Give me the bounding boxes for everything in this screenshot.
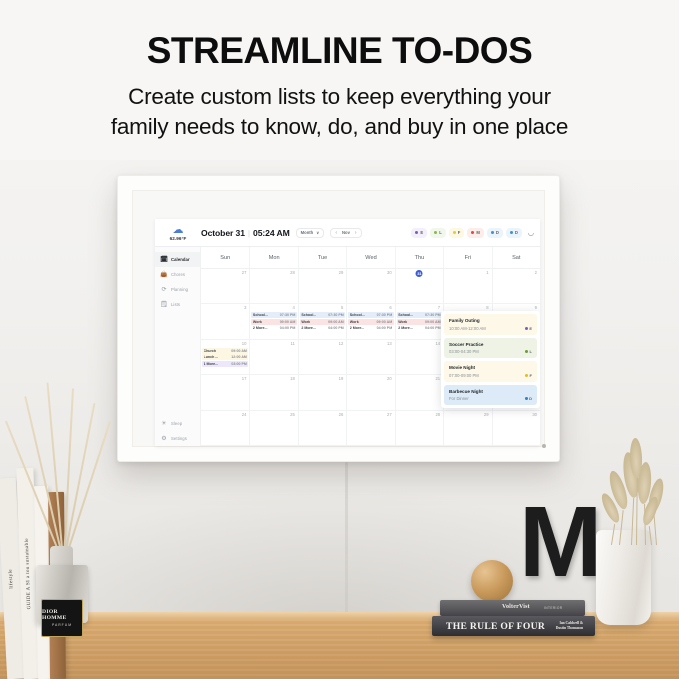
calendar-event[interactable]: Work09:00 AM [251,319,296,325]
filter-dot-icon [434,231,437,234]
left-book-title: GUIDE A SI a tou sustainable [25,538,32,609]
chevron-right-icon[interactable]: › [355,230,357,236]
day-number: 25 [290,412,295,417]
day-number: 2 [535,270,537,275]
calendar-week-row: 272829303112 [201,269,540,304]
day-number: 4 [293,305,295,310]
day-number: 1 [486,270,488,275]
calendar-event[interactable]: Church09:00 AM [202,348,248,354]
calendar-event[interactable]: Work09:00 AM [300,319,345,325]
event-time: 07:30 PM [328,312,344,318]
sidebar-item-lists[interactable]: 🗒Lists [155,297,200,312]
day-header-wed: Wed [346,247,394,268]
agenda-card-tag: L [525,349,532,354]
agenda-card-tag: F [525,373,532,378]
sidebar-item-label: Calendar [171,257,190,262]
event-title: Work [350,319,359,325]
event-time: 04:00 PM [328,325,344,331]
calendar-day-cell[interactable]: 6School...07:30 PMWork09:00 AM2 More...0… [346,304,394,338]
calendar-day-cell[interactable]: 20 [346,375,394,409]
day-header-thu: Thu [395,247,443,268]
date-label: October 31 [201,228,245,238]
list-icon: 🗒 [160,301,168,308]
app-topbar: ☁ 62.96°F October 31 | 05:24 AM Month ∨ … [155,219,540,247]
day-number: 18 [290,376,295,381]
calendar-icon: 🗓 [160,256,168,263]
agenda-card-title: Family Outing [449,318,532,323]
calendar-event[interactable]: 2 More...04:00 PM [397,325,442,331]
agenda-tag-label: E [529,326,532,331]
calendar-day-cell[interactable]: 31 [395,269,443,303]
agenda-tag-dot-icon [525,397,528,400]
filter-chip-label: D [515,230,518,235]
sidebar-item-sleep[interactable]: ☀Sleep [155,416,200,431]
diffuser-label: DIOR HOMME PARFUM [41,599,83,637]
filter-dot-icon [491,231,494,234]
event-time: 12:00 AM [231,354,247,360]
event-time: 09:00 AM [231,348,247,354]
calendar-day-cell[interactable]: 10Church09:00 AMLunch ...12:00 AM1 More.… [201,340,249,374]
day-header-tue: Tue [298,247,346,268]
filter-chip-label: L [439,230,442,235]
view-selector-label: Month [301,230,314,235]
calendar-day-cell[interactable]: 13 [346,340,394,374]
chevron-left-icon[interactable]: ‹ [335,230,337,236]
month-nav-label: Nov [342,230,350,235]
calendar-day-cell[interactable]: 28 [395,411,443,445]
filter-dot-icon [471,231,474,234]
day-number: 30 [387,270,392,275]
day-number: 6 [389,305,391,310]
letter-m-decor: M [519,495,597,590]
event-time: 07:30 PM [425,312,441,318]
agenda-card-title: Soccer Practice [449,342,532,347]
filter-chip-label: M [476,230,480,235]
sidebar-spacer [155,312,200,416]
day-number: 10 [242,341,247,346]
day-header-fri: Fri [443,247,491,268]
diffuser-brand: DIOR HOMME [42,609,82,621]
calendar-day-cell[interactable]: 28 [249,269,297,303]
agenda-card-subtitle: 10:00 AM-12:00 AM [449,326,532,331]
calendar-day-cell[interactable]: 5School...07:30 PMWork09:00 AM2 More...0… [298,304,346,338]
event-time: 09:00 AM [328,319,344,325]
calendar-day-cell[interactable]: 27 [346,411,394,445]
book-volterhist: VolterVist INTERIOR [440,600,585,616]
basket-icon: 👜 [160,271,168,278]
agenda-card-subtitle: 03:00-04:30 PM [449,349,532,354]
calendar-event[interactable]: 2 More...04:00 PM [251,325,296,331]
day-number: 19 [339,376,344,381]
promo-header: STREAMLINE TO-DOS Create custom lists to… [0,0,679,160]
day-number: 7 [438,305,440,310]
calendar-day-cell[interactable]: 19 [298,375,346,409]
sidebar-item-label: Settings [171,436,187,441]
day-number: 20 [387,376,392,381]
day-number: 21 [435,376,440,381]
view-selector-dropdown[interactable]: Month ∨ [296,228,325,238]
month-navigation[interactable]: ‹ Nov › [330,228,361,238]
day-number: 5 [341,305,343,310]
agenda-tag-dot-icon [525,350,528,353]
day-events: Church09:00 AMLunch ...12:00 AM1 More...… [202,348,248,367]
calendar-view: SunMonTueWedThuFriSat 27282930311234Scho… [201,247,540,446]
today-badge: 31 [416,270,423,277]
event-time: 09:00 AM [280,319,296,325]
chevron-down-icon: ∨ [316,230,319,235]
filter-chip-d-5[interactable]: D [506,228,522,238]
agenda-card[interactable]: Family Outing10:00 AM-12:00 AME [444,314,537,335]
day-events: School...07:30 PMWork09:00 AM2 More...04… [397,312,442,331]
book-rule-of-four: THE RULE OF FOUR Ian Caldwell &Dustin Th… [432,616,595,636]
calendar-day-cell[interactable]: 21 [395,375,443,409]
promo-subtitle-line1: Create custom lists to keep everything y… [0,82,679,112]
event-time: 04:00 PM [377,325,393,331]
book-rule-of-four-title: THE RULE OF FOUR [446,621,545,632]
day-number: 8 [486,305,488,310]
agenda-card[interactable]: Movie Night07:00-09:00 PMF [444,361,537,382]
event-title: 2 More... [301,325,316,331]
sidebar-item-label: Chores [171,272,185,277]
filter-dot-icon [453,231,456,234]
calendar-day-cell[interactable]: 25 [249,411,297,445]
agenda-card-subtitle: For Dinner [449,396,532,401]
event-title: 2 More... [253,325,268,331]
day-header-sat: Sat [492,247,540,268]
calendar-day-cell[interactable]: 30 [492,411,540,445]
temperature-label: 62.96°F [170,236,187,241]
day-number: 3 [244,305,246,310]
filter-chip-label: F [458,230,461,235]
day-number: 27 [387,412,392,417]
calendar-filter-chips: ELFMDD [411,228,523,238]
sidebar-item-label: Lists [171,302,180,307]
power-cable [345,462,348,622]
agenda-card-title: Movie Night [449,365,532,370]
agenda-card-title: Barbecue Night [449,389,532,394]
agenda-card-subtitle: 07:00-09:00 PM [449,373,532,378]
calendar-event[interactable]: 2 More...04:00 PM [300,325,345,331]
app-body: 🗓Calendar👜Chores⟳Planning🗒Lists☀Sleep⚙Se… [155,247,540,446]
event-title: Work [253,319,262,325]
smart-display-frame: ☁ 62.96°F October 31 | 05:24 AM Month ∨ … [117,175,560,462]
event-time: 04:00 PM [280,325,296,331]
filter-chip-label: E [420,230,423,235]
day-number: 27 [242,270,247,275]
event-title: 2 More... [350,325,365,331]
calendar-day-cell[interactable]: 3 [201,304,249,338]
event-title: Church [204,348,217,354]
day-number: 11 [290,341,294,346]
event-time: 07:30 PM [377,312,393,318]
day-number: 30 [532,412,537,417]
day-number: 17 [242,376,247,381]
agenda-card[interactable]: Barbecue NightFor DinnerD [444,385,537,406]
day-events: School...07:30 PMWork09:00 AM2 More...04… [251,312,296,331]
event-title: Work [301,319,310,325]
calendar-day-cell[interactable]: 29 [443,411,491,445]
filter-dot-icon [415,231,418,234]
promo-subtitle: Create custom lists to keep everything y… [0,82,679,142]
sun-icon: ☀ [160,420,168,427]
calendar-day-cell[interactable]: 24 [201,411,249,445]
event-title: Work [398,319,407,325]
calendar-day-cell[interactable]: 27 [201,269,249,303]
event-title: 1 More... [204,361,219,367]
smart-display-screen[interactable]: ☁ 62.96°F October 31 | 05:24 AM Month ∨ … [155,219,540,446]
sidebar-item-label: Sleep [171,421,182,426]
app-sidebar: 🗓Calendar👜Chores⟳Planning🗒Lists☀Sleep⚙Se… [155,247,201,446]
diffuser-sub: PARFUM [52,623,72,627]
calendar-event[interactable]: School...07:30 PM [397,312,442,318]
agenda-tag-dot-icon [525,327,528,330]
day-number: 12 [339,341,344,346]
day-number: 29 [484,412,489,417]
filter-chip-d-4[interactable]: D [487,228,503,238]
calendar-day-cell[interactable]: 17 [201,375,249,409]
calendar-day-cell[interactable]: 1 [443,269,491,303]
cloud-icon: ☁ [173,225,184,235]
day-number: 29 [339,270,344,275]
calendar-event[interactable]: School...07:30 PM [348,312,393,318]
datetime-display: October 31 | 05:24 AM [201,228,290,238]
calendar-day-cell[interactable]: 30 [346,269,394,303]
calendar-event[interactable]: Work09:00 AM [348,319,393,325]
promo-subtitle-line2: family needs to know, do, and buy in one… [0,112,679,142]
agenda-tag-label: F [530,373,532,378]
calendar-week-row: 24252627282930 [201,411,540,446]
event-title: 2 More... [398,325,413,331]
time-label: 05:24 AM [253,228,290,238]
day-number: 13 [387,341,392,346]
filter-dot-icon [510,231,513,234]
calendar-day-cell[interactable]: 7School...07:30 PMWork09:00 AM2 More...0… [395,304,443,338]
filter-chip-m-3[interactable]: M [467,228,484,238]
agenda-tag-dot-icon [525,374,528,377]
datetime-separator: | [248,228,250,238]
left-book-title: lifestyle [8,569,14,589]
event-time: 09:00 AM [377,319,393,325]
book-volterhist-sub: INTERIOR [544,606,562,610]
calendar-day-cell[interactable]: 18 [249,375,297,409]
filter-chip-label: D [496,230,499,235]
calendar-event[interactable]: Lunch ...12:00 AM [202,354,248,360]
agenda-popup[interactable]: Family Outing10:00 AM-12:00 AMESoccer Pr… [441,311,540,408]
calendar-day-cell[interactable]: 2 [492,269,540,303]
refresh-icon: ⟳ [160,286,168,293]
sidebar-item-calendar[interactable]: 🗓Calendar [155,252,200,267]
event-time: 03:00 PM [231,361,247,367]
calendar-event[interactable]: Work09:00 AM [397,319,442,325]
day-events: School...07:30 PMWork09:00 AM2 More...04… [300,312,345,331]
calendar-day-headers: SunMonTueWedThuFriSat [201,247,540,269]
event-time: 09:00 AM [425,319,441,325]
sidebar-item-settings[interactable]: ⚙Settings [155,431,200,446]
calendar-event[interactable]: School...07:30 PM [251,312,296,318]
event-title: Lunch ... [204,354,219,360]
day-number: 14 [435,341,440,346]
event-time: 04:00 PM [425,325,441,331]
calendar-event[interactable]: School...07:30 PM [300,312,345,318]
filter-chip-l-1[interactable]: L [430,228,446,238]
agenda-tag-label: L [530,349,532,354]
calendar-event[interactable]: 2 More...04:00 PM [348,325,393,331]
sidebar-item-label: Planning [171,287,188,292]
day-number: 9 [535,305,537,310]
agenda-card-tag: D [525,396,532,401]
sidebar-item-planning[interactable]: ⟳Planning [155,282,200,297]
ceramic-vase [596,530,651,625]
sidebar-item-chores[interactable]: 👜Chores [155,267,200,282]
event-title: School... [301,312,316,318]
book-volterhist-title: VolterVist [502,604,530,610]
event-title: School... [253,312,268,318]
calendar-event[interactable]: 1 More...03:00 PM [202,361,248,367]
day-number: 24 [242,412,247,417]
event-time: 07:30 PM [280,312,296,318]
gear-icon: ⚙ [160,435,168,442]
day-events: School...07:30 PMWork09:00 AM2 More...04… [348,312,393,331]
event-title: School... [398,312,413,318]
calendar-day-cell[interactable]: 4School...07:30 PMWork09:00 AM2 More...0… [249,304,297,338]
day-number: 28 [290,270,295,275]
day-number: 28 [435,412,440,417]
weather-widget[interactable]: ☁ 62.96°F [155,224,201,241]
day-header-sun: Sun [201,247,249,268]
calendar-day-cell[interactable]: 26 [298,411,346,445]
calendar-day-cell[interactable]: 29 [298,269,346,303]
page-title: STREAMLINE TO-DOS [0,30,679,72]
calendar-day-cell[interactable]: 11 [249,340,297,374]
agenda-tag-label: D [529,396,532,401]
brass-ball-decor [471,560,513,602]
agenda-card[interactable]: Soccer Practice03:00-04:30 PML [444,338,537,359]
calendar-day-cell[interactable]: 14 [395,340,443,374]
frame-indicator-led [542,444,546,448]
filter-chip-f-2[interactable]: F [449,228,465,238]
book-rule-of-four-author: Ian Caldwell &Dustin Thomason [556,621,583,632]
book-author-line: Dustin Thomason [556,626,583,631]
filter-chip-e-0[interactable]: E [411,228,427,238]
event-title: School... [350,312,365,318]
day-header-mon: Mon [249,247,297,268]
wifi-icon[interactable]: ◡ [528,229,534,237]
agenda-card-tag: E [525,326,532,331]
calendar-day-cell[interactable]: 12 [298,340,346,374]
day-number: 26 [339,412,344,417]
